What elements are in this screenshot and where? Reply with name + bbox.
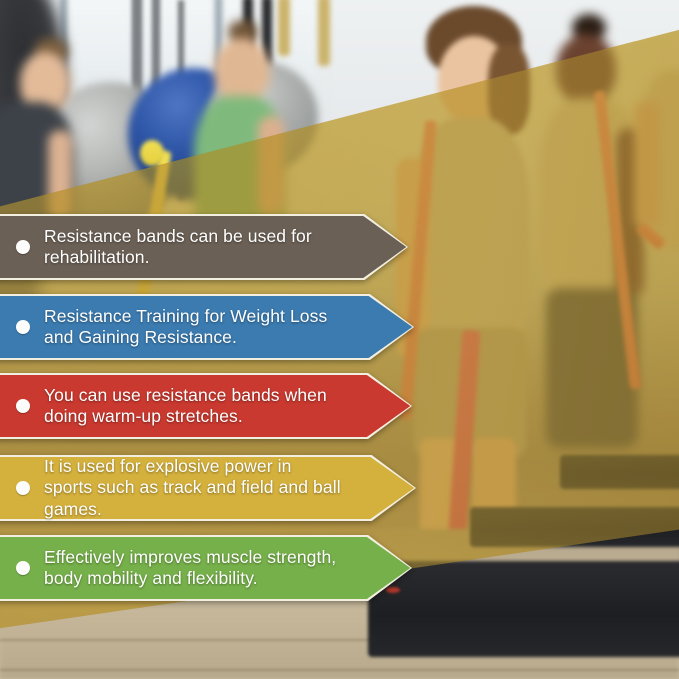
benefit-text: Resistance bands can be used for rehabil… [44,226,344,269]
benefit-banner-weight-loss[interactable]: Resistance Training for Weight Loss and … [0,294,414,360]
benefit-banner-rehabilitation[interactable]: Resistance bands can be used for rehabil… [0,214,408,280]
bullet-dot-icon [16,320,30,334]
benefit-banner-muscle-strength[interactable]: Effectively improves muscle strength, bo… [0,535,412,601]
benefit-banner-explosive-power[interactable]: It is used for explosive power in sports… [0,455,416,521]
bullet-dot-icon [16,481,30,495]
bullet-dot-icon [16,399,30,413]
benefit-text: It is used for explosive power in sports… [44,456,344,520]
benefit-banner-warm-up[interactable]: You can use resistance bands when doing … [0,373,412,439]
benefit-text: Resistance Training for Weight Loss and … [44,306,344,349]
benefit-text: You can use resistance bands when doing … [44,385,344,428]
benefit-text: Effectively improves muscle strength, bo… [44,547,344,590]
infographic-canvas: Resistance bands can be used for rehabil… [0,0,679,679]
bullet-dot-icon [16,561,30,575]
benefits-list: Resistance bands can be used for rehabil… [0,0,679,679]
bullet-dot-icon [16,240,30,254]
